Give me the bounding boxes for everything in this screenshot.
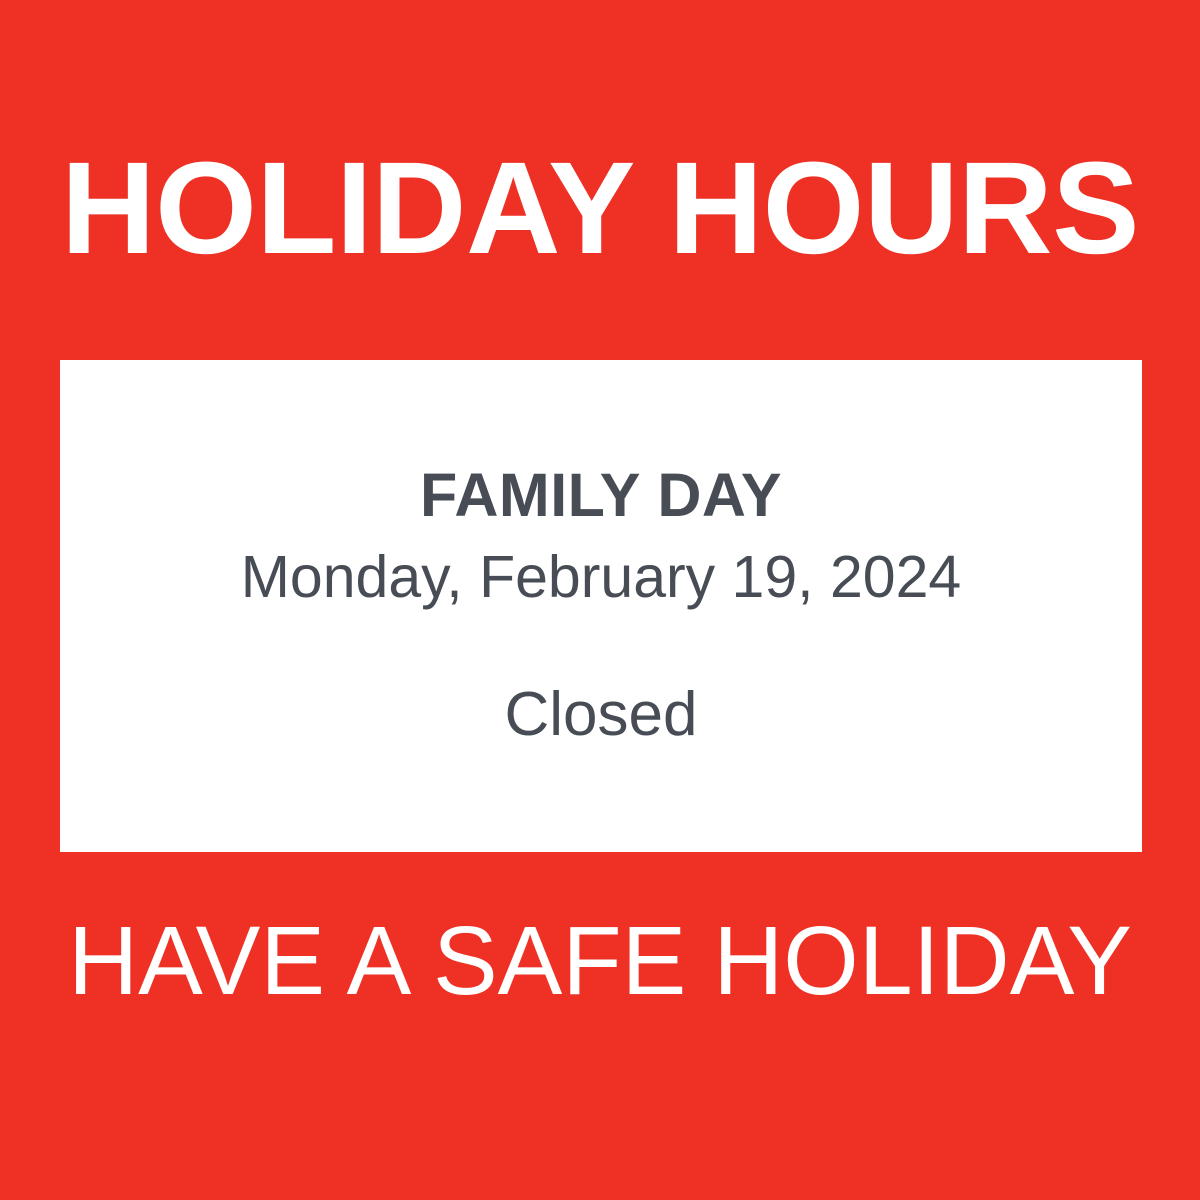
holiday-hours-sign: HOLIDAY HOURS FAMILY DAY Monday, Februar… [0, 0, 1200, 1200]
holiday-date: Monday, February 19, 2024 [241, 542, 961, 613]
status-badge: Closed [505, 681, 698, 749]
holiday-info-card: FAMILY DAY Monday, February 19, 2024 Clo… [60, 360, 1142, 852]
page-title: HOLIDAY HOURS [0, 142, 1200, 273]
holiday-info-card-content: FAMILY DAY Monday, February 19, 2024 Clo… [60, 360, 1142, 852]
footer-message: HAVE A SAFE HOLIDAY [0, 912, 1200, 1009]
holiday-name: FAMILY DAY [420, 463, 782, 529]
